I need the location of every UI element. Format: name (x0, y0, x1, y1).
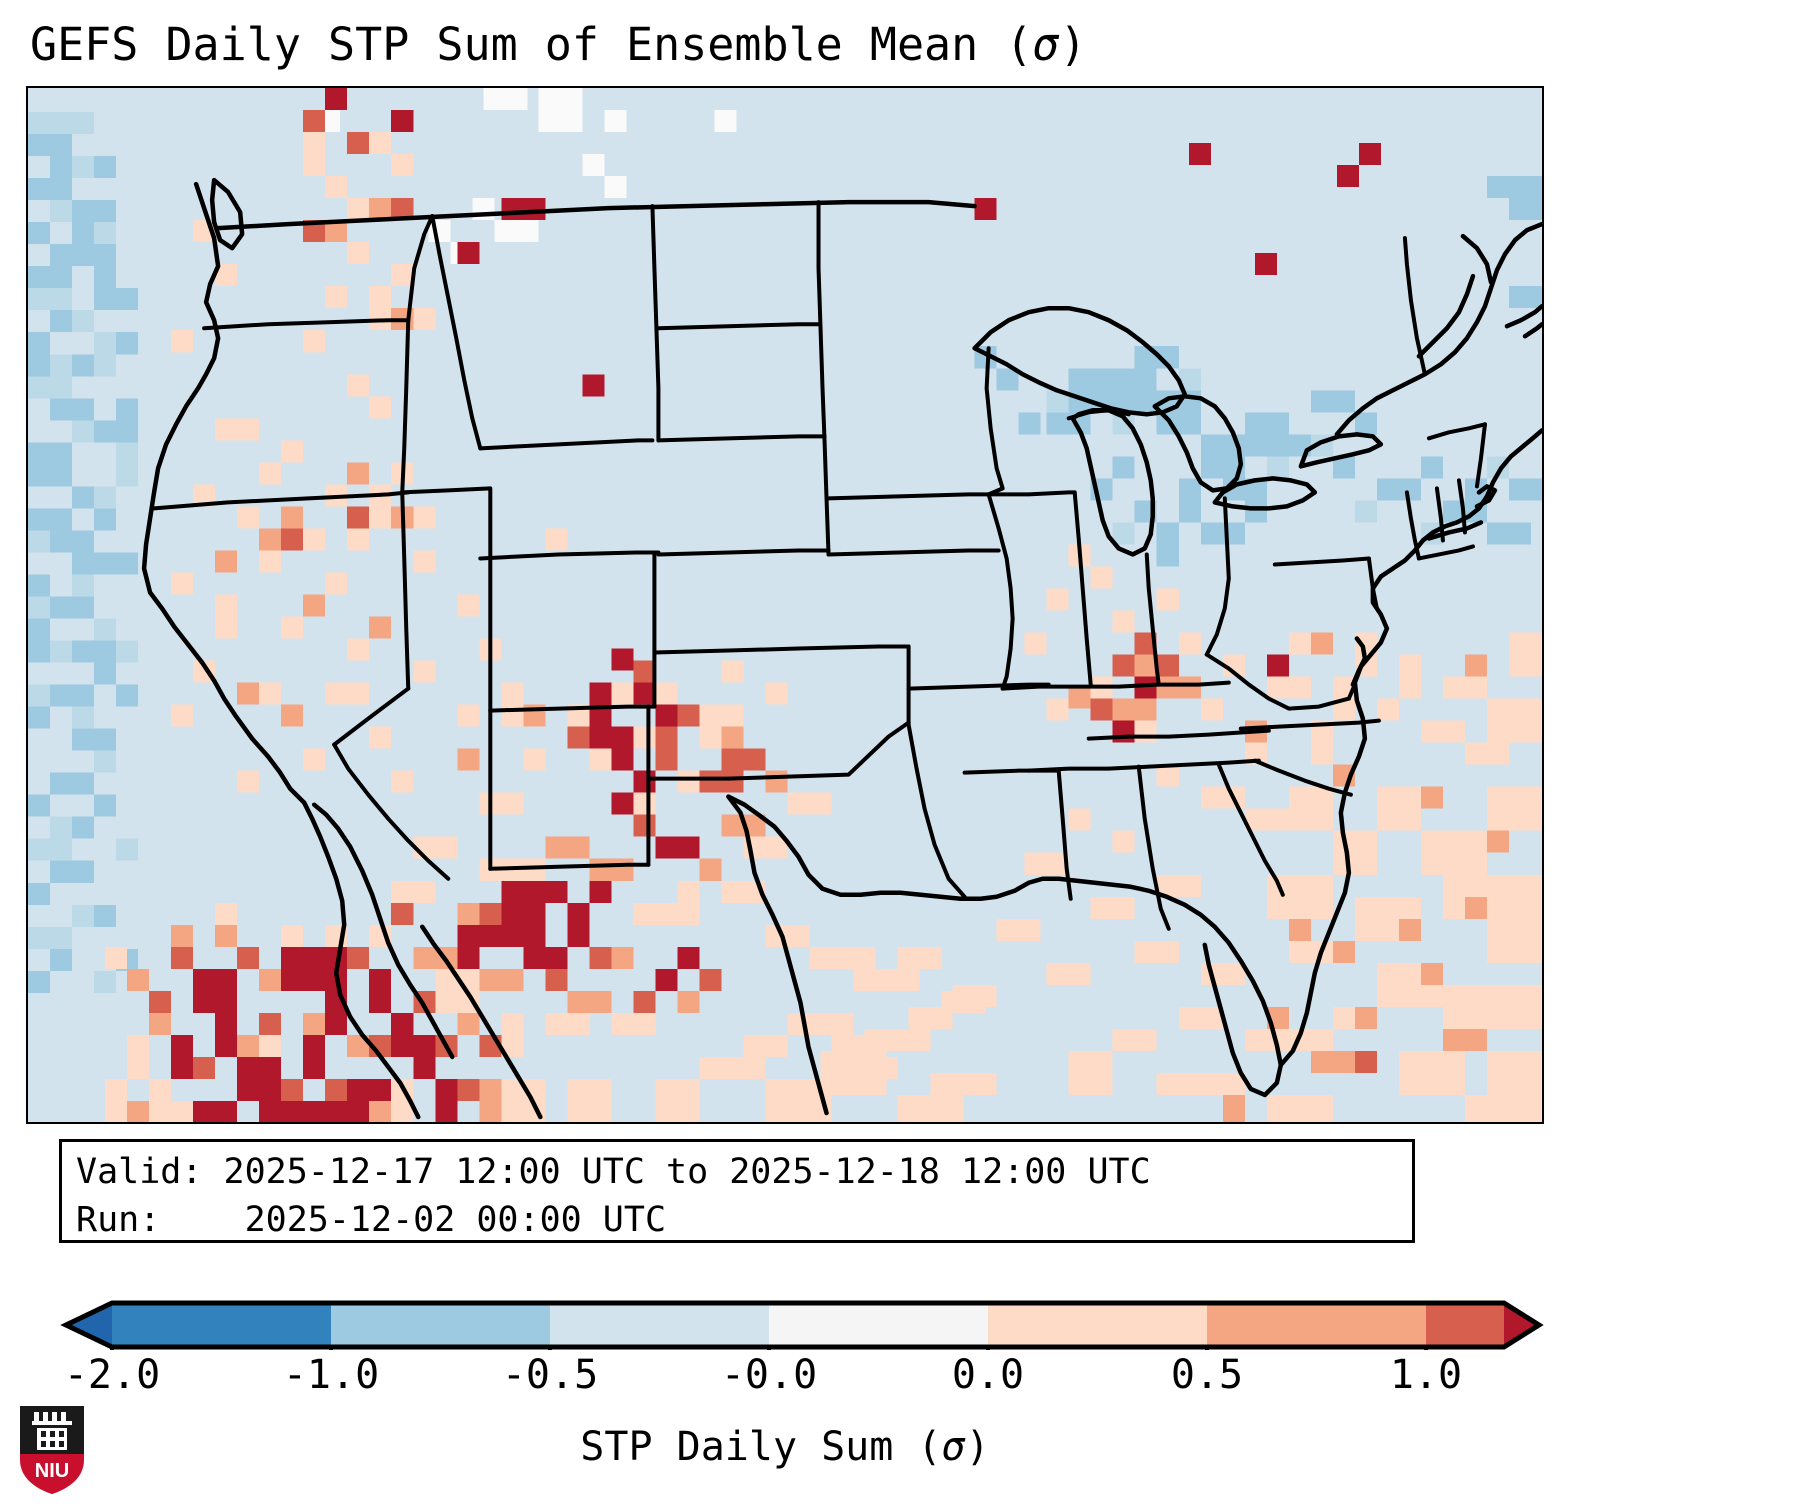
niu-logo-text: NIU (35, 1460, 69, 1482)
colorbar-label-prefix: STP Daily Sum ( (580, 1424, 941, 1470)
map-plot-area[interactable] (26, 86, 1544, 1124)
colorbar-extend-right (1504, 1303, 1539, 1347)
colorbar-tick-label-3: -0.0 (721, 1352, 817, 1398)
colorbar[interactable] (26, 1300, 1544, 1350)
colorbar-tick-labels: -2.0 -1.0 -0.5 -0.0 0.0 0.5 1.0 (0, 1352, 1803, 1412)
colorbar-tick-label-4: 0.0 (952, 1352, 1024, 1398)
colorbar-label-sigma-symbol: σ (942, 1424, 966, 1470)
colorbar-extend-left (66, 1303, 112, 1347)
colorbar-svg (26, 1300, 1544, 1350)
run-time-line: Run: 2025-12-02 00:00 UTC (76, 1196, 1398, 1244)
colorbar-axis-label: STP Daily Sum (σ) (0, 1424, 1570, 1470)
title-sigma-symbol: σ (1032, 18, 1059, 71)
colorbar-tick-label-6: 1.0 (1390, 1352, 1462, 1398)
niu-logo-svg: NIU (16, 1404, 88, 1496)
colorbar-tick-label-5: 0.5 (1171, 1352, 1243, 1398)
title-suffix: ) (1060, 18, 1087, 71)
colorbar-seg-5 (988, 1303, 1207, 1347)
figure-canvas: GEFS Daily STP Sum of Ensemble Mean (σ) (0, 0, 1803, 1506)
colorbar-label-suffix: ) (966, 1424, 990, 1470)
colorbar-seg-7 (1426, 1303, 1504, 1347)
colorbar-seg-2 (331, 1303, 550, 1347)
map-svg (28, 88, 1542, 1122)
colorbar-seg-3 (550, 1303, 769, 1347)
colorbar-tick-label-0: -2.0 (64, 1352, 160, 1398)
colorbar-tick-label-1: -1.0 (283, 1352, 379, 1398)
title-prefix: GEFS Daily STP Sum of Ensemble Mean ( (30, 18, 1032, 71)
valid-time-annotation-box: Valid: 2025-12-17 12:00 UTC to 2025-12-1… (59, 1139, 1415, 1243)
valid-time-line: Valid: 2025-12-17 12:00 UTC to 2025-12-1… (76, 1148, 1398, 1196)
page-title: GEFS Daily STP Sum of Ensemble Mean (σ) (30, 14, 1770, 76)
colorbar-seg-6 (1207, 1303, 1426, 1347)
colorbar-seg-4 (769, 1303, 988, 1347)
colorbar-seg-1 (112, 1303, 331, 1347)
niu-logo: NIU (16, 1404, 88, 1496)
colorbar-tick-label-2: -0.5 (502, 1352, 598, 1398)
